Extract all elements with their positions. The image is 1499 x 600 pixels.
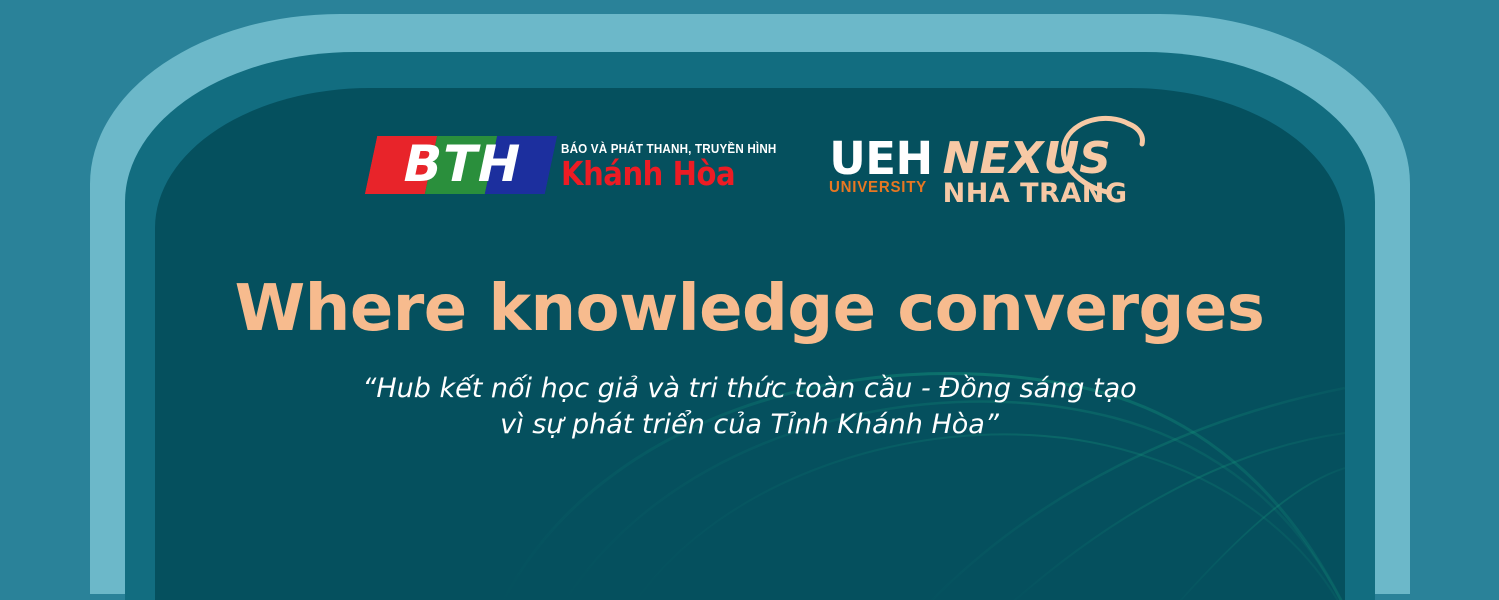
banner-root: B T H BÁO VÀ PHÁT THANH, TRUYỀN HÌNH Khá…	[0, 0, 1499, 600]
ueh-acronym: UEH	[829, 138, 932, 179]
bth-mark-letters: B T H	[365, 136, 557, 194]
ueh-university-label: UNIVERSITY	[829, 179, 929, 197]
subtitle-block: “Hub kết nối học giả và tri thức toàn cầ…	[0, 371, 1499, 444]
bth-logo-text: BÁO VÀ PHÁT THANH, TRUYỀN HÌNH Khánh Hòa	[561, 142, 793, 189]
subtitle-line-1: “Hub kết nối học giả và tri thức toàn cầ…	[0, 371, 1499, 407]
ueh-brand-nexus: NEXUS	[943, 138, 1128, 180]
bth-province: Khánh Hòa	[561, 158, 765, 189]
ueh-acronym-block: UEH UNIVERSITY	[829, 138, 932, 197]
logo-row: B T H BÁO VÀ PHÁT THANH, TRUYỀN HÌNH Khá…	[0, 124, 1499, 207]
ueh-nexus-block: NEXUS NHA TRANG	[943, 138, 1128, 207]
headline-title: Where knowledge converges	[0, 276, 1499, 343]
bth-khanh-hoa-logo: B T H BÁO VÀ PHÁT THANH, TRUYỀN HÌNH Khá…	[371, 136, 793, 194]
subtitle-line-2: vì sự phát triển của Tỉnh Khánh Hòa”	[0, 407, 1499, 443]
bth-logo-mark: B T H	[365, 136, 557, 194]
banner-content: B T H BÁO VÀ PHÁT THANH, TRUYỀN HÌNH Khá…	[0, 0, 1499, 600]
bth-letter-h: H	[473, 139, 524, 189]
ueh-nexus-logo: UEH UNIVERSITY NEXUS NHA TRANG	[829, 124, 1127, 207]
